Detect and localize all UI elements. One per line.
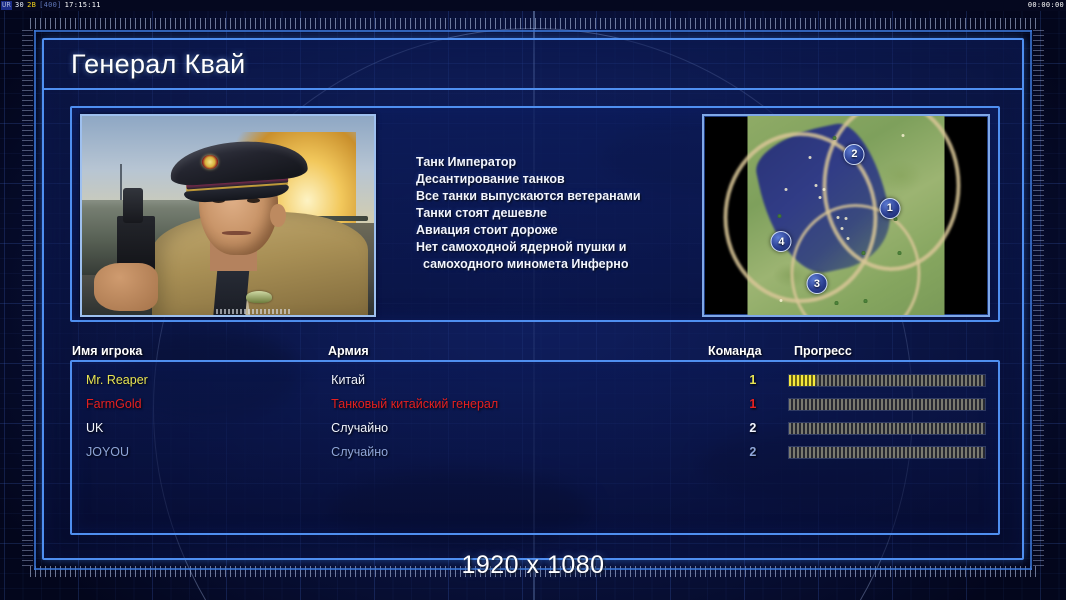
player-name[interactable]: JOYOU bbox=[86, 445, 331, 459]
column-header-name: Имя игрока bbox=[72, 344, 328, 358]
hud-top-bar: UR 30 2B [400] 17:15:11 00:00:00 bbox=[0, 0, 1066, 11]
frame-line-top bbox=[34, 30, 1032, 32]
general-abilities-list: Танк Император Десантирование танков Все… bbox=[416, 154, 746, 273]
portrait-pistol-barrel bbox=[123, 188, 143, 224]
table-row[interactable]: JOYOU Случайно 2 bbox=[72, 440, 998, 464]
page-title: Генерал Квай bbox=[71, 49, 246, 80]
ability-line: Нет самоходной ядерной пушки и bbox=[416, 239, 746, 256]
ability-line: Все танки выпускаются ветеранами bbox=[416, 188, 746, 205]
player-progress bbox=[788, 446, 986, 459]
minimap-resource-dot bbox=[901, 134, 904, 137]
player-progress bbox=[788, 374, 986, 387]
player-army[interactable]: Случайно bbox=[331, 445, 703, 459]
minimap-tree bbox=[777, 214, 781, 218]
player-table-body: Mr. Reaper Китай 1 FarmGold Танковый кит… bbox=[70, 360, 1000, 535]
window-title-bar: Генерал Квай bbox=[44, 40, 1022, 90]
minimap-resource-dot bbox=[809, 156, 812, 159]
ability-line: Авиация стоит дороже bbox=[416, 222, 746, 239]
game-lobby-screen: UR 30 2B [400] 17:15:11 00:00:00 Генерал… bbox=[0, 0, 1066, 600]
player-team[interactable]: 2 bbox=[703, 445, 756, 459]
hud-label: UR bbox=[1, 1, 12, 10]
start-position-label: 2 bbox=[851, 148, 857, 160]
progress-bar-track bbox=[789, 375, 985, 386]
ability-line: самоходного миномета Инферно bbox=[416, 256, 746, 273]
minimap-resource-dot bbox=[814, 184, 817, 187]
table-row[interactable]: FarmGold Танковый китайский генерал 1 bbox=[72, 392, 998, 416]
portrait-hand bbox=[94, 263, 158, 311]
minimap-resource-dot bbox=[822, 188, 825, 191]
minimap-tree bbox=[834, 301, 838, 305]
progress-bar-fill bbox=[789, 375, 814, 386]
ability-line: Десантирование танков bbox=[416, 171, 746, 188]
hud-clock: 17:15:11 bbox=[65, 1, 101, 10]
progress-bar bbox=[788, 374, 986, 387]
player-team[interactable]: 2 bbox=[703, 421, 756, 435]
start-position-label: 3 bbox=[814, 278, 820, 290]
general-portrait bbox=[80, 114, 376, 317]
ability-line: Танк Император bbox=[416, 154, 746, 171]
minimap-tree bbox=[897, 251, 901, 255]
progress-bar-track bbox=[789, 399, 985, 410]
start-position-label: 4 bbox=[778, 236, 784, 248]
frame-ruler-left bbox=[22, 30, 33, 570]
minimap-start-position-3[interactable]: 3 bbox=[806, 273, 827, 294]
portrait-artwork bbox=[82, 116, 374, 315]
table-row[interactable]: UK Случайно 2 bbox=[72, 416, 998, 440]
minimap-start-position-1[interactable]: 1 bbox=[879, 198, 900, 219]
column-header-progress: Прогресс bbox=[794, 344, 994, 358]
player-army[interactable]: Случайно bbox=[331, 421, 703, 435]
hud-stats: UR 30 2B [400] 17:15:11 bbox=[0, 1, 101, 10]
player-name[interactable]: Mr. Reaper bbox=[86, 373, 331, 387]
hud-timer: 00:00:00 bbox=[1028, 1, 1064, 9]
player-team[interactable]: 1 bbox=[703, 373, 756, 387]
player-army[interactable]: Танковый китайский генерал bbox=[331, 397, 703, 411]
frame-ruler-top bbox=[30, 18, 1036, 29]
minimap[interactable]: 1 2 3 4 bbox=[702, 114, 990, 317]
frame-line-left bbox=[34, 30, 36, 570]
progress-bar bbox=[788, 398, 986, 411]
frame-line-right bbox=[1030, 30, 1032, 570]
player-progress bbox=[788, 398, 986, 411]
portrait-cap-star-emblem bbox=[202, 155, 218, 169]
table-row[interactable]: Mr. Reaper Китай 1 bbox=[72, 368, 998, 392]
hud-value-2: 2B bbox=[27, 1, 36, 10]
progress-bar bbox=[788, 422, 986, 435]
ability-line: Танки стоят дешевле bbox=[416, 205, 746, 222]
resolution-overlay: 1920 x 1080 bbox=[0, 551, 1066, 580]
progress-bar-track bbox=[789, 423, 985, 434]
main-window: Генерал Квай bbox=[42, 38, 1024, 560]
hud-bracket: [400] bbox=[39, 1, 62, 10]
column-header-army: Армия bbox=[328, 344, 708, 358]
player-table-header: Имя игрока Армия Команда Прогресс bbox=[72, 336, 998, 358]
general-info-panel: Танк Император Десантирование танков Все… bbox=[70, 106, 1000, 322]
column-header-team: Команда bbox=[708, 344, 794, 358]
minimap-tree bbox=[832, 136, 836, 140]
player-name[interactable]: FarmGold bbox=[86, 397, 331, 411]
progress-bar-track bbox=[789, 447, 985, 458]
frame-ruler-right bbox=[1033, 30, 1044, 570]
minimap-resource-dot bbox=[818, 196, 821, 199]
minimap-resource-dot bbox=[836, 216, 839, 219]
minimap-resource-dot bbox=[779, 299, 782, 302]
progress-bar bbox=[788, 446, 986, 459]
portrait-caption-strip bbox=[216, 309, 292, 314]
player-name[interactable]: UK bbox=[86, 421, 331, 435]
start-position-label: 1 bbox=[887, 202, 893, 214]
player-army[interactable]: Китай bbox=[331, 373, 703, 387]
minimap-terrain: 1 2 3 4 bbox=[748, 116, 945, 315]
hud-value-1: 30 bbox=[15, 1, 24, 10]
player-team[interactable]: 1 bbox=[703, 397, 756, 411]
player-progress bbox=[788, 422, 986, 435]
portrait-badge bbox=[246, 291, 272, 303]
